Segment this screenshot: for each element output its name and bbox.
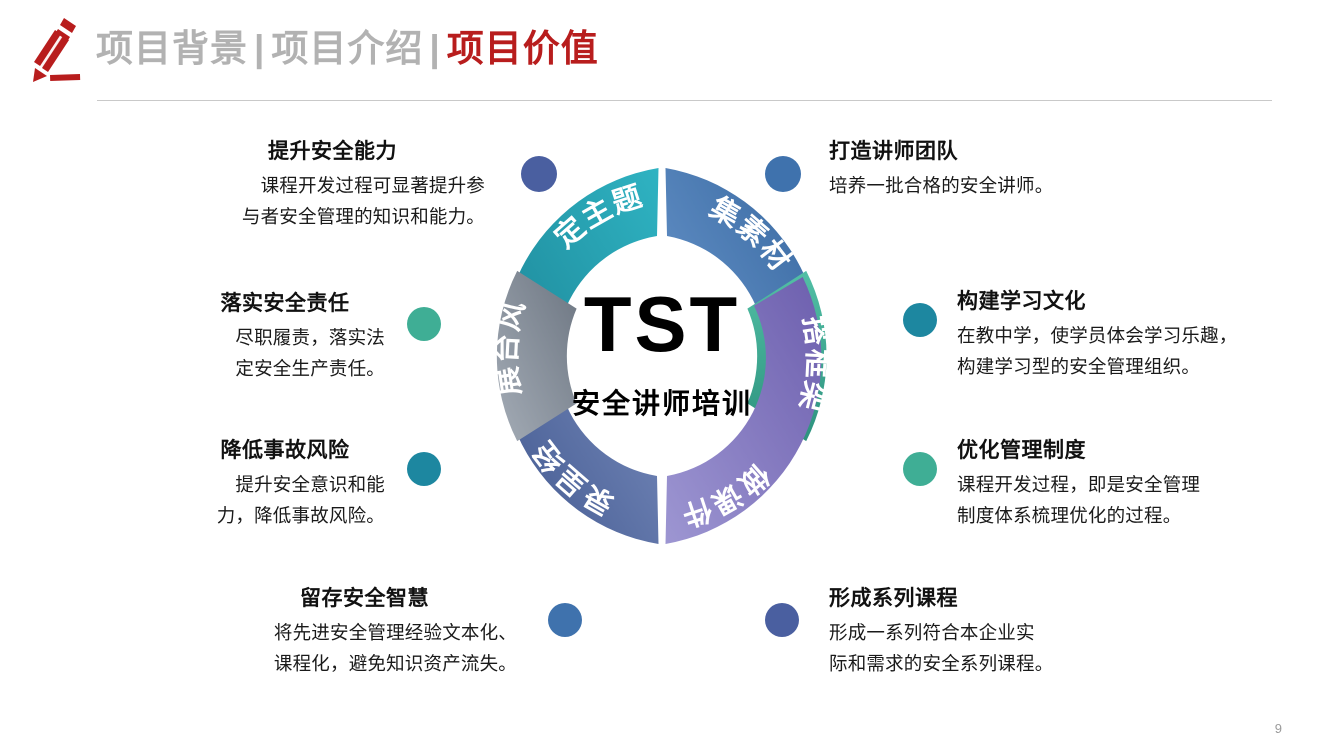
breadcrumb-item-0[interactable]: 项目背景 xyxy=(96,28,248,69)
callout-left-3: 留存安全智慧 将先进安全管理经验文本化、 课程化，避免知识资产流失。 xyxy=(212,584,517,679)
callout-dot-left-0 xyxy=(521,156,557,192)
callout-title: 提升安全能力 xyxy=(180,137,485,167)
slide-header: 项目背景|项目介绍|项目价值 xyxy=(0,0,1324,104)
callout-body: 将先进安全管理经验文本化、 课程化，避免知识资产流失。 xyxy=(212,617,517,679)
pencil-icon xyxy=(26,16,86,90)
breadcrumb-separator-1: | xyxy=(423,28,446,69)
callout-dot-right-2 xyxy=(903,452,937,486)
page-title: 项目背景|项目介绍|项目价值 xyxy=(96,21,599,77)
callout-dot-right-1 xyxy=(903,303,937,337)
callout-dot-left-1 xyxy=(407,307,441,341)
callout-body: 在教中学，使学员体会学习乐趣， 构建学习型的安全管理组织。 xyxy=(957,320,1317,382)
callout-dot-left-3 xyxy=(548,603,582,637)
breadcrumb-item-2[interactable]: 项目价值 xyxy=(447,28,599,69)
callout-body: 培养一批合格的安全讲师。 xyxy=(829,170,1209,201)
wheel-center-subtitle: 安全讲师培训 xyxy=(452,382,872,422)
callout-left-1: 落实安全责任 尽职履责，落实法 定安全生产责任。 xyxy=(185,289,385,384)
callout-title: 形成系列课程 xyxy=(829,584,1189,614)
callout-right-1: 构建学习文化 在教中学，使学员体会学习乐趣， 构建学习型的安全管理组织。 xyxy=(957,287,1317,382)
callout-right-2: 优化管理制度 课程开发过程，即是安全管理 制度体系梳理优化的过程。 xyxy=(957,436,1317,531)
page-number: 9 xyxy=(1275,721,1282,736)
value-wheel-diagram: 定主题 集素材 搭框架 做课件 录呈经 展台风 TST 安全讲师培训 提升安全能… xyxy=(0,104,1324,752)
callout-title: 打造讲师团队 xyxy=(829,137,1209,167)
callout-dot-left-2 xyxy=(407,452,441,486)
callout-title: 降低事故风险 xyxy=(185,436,385,466)
callout-title: 落实安全责任 xyxy=(185,289,385,319)
breadcrumb-separator-0: | xyxy=(248,28,271,69)
callout-right-3: 形成系列课程 形成一系列符合本企业实 际和需求的安全系列课程。 xyxy=(829,584,1189,679)
callout-body: 课程开发过程可显著提升参 与者安全管理的知识和能力。 xyxy=(180,170,485,232)
callout-left-0: 提升安全能力 课程开发过程可显著提升参 与者安全管理的知识和能力。 xyxy=(180,137,485,232)
callout-body: 尽职履责，落实法 定安全生产责任。 xyxy=(185,322,385,384)
header-divider xyxy=(97,100,1272,101)
callout-title: 构建学习文化 xyxy=(957,287,1317,317)
callout-title: 留存安全智慧 xyxy=(212,584,517,614)
wheel-center-acronym: TST xyxy=(452,282,872,366)
callout-body: 形成一系列符合本企业实 际和需求的安全系列课程。 xyxy=(829,617,1189,679)
callout-left-2: 降低事故风险 提升安全意识和能 力，降低事故风险。 xyxy=(185,436,385,531)
callout-dot-right-0 xyxy=(765,156,801,192)
callout-body: 提升安全意识和能 力，降低事故风险。 xyxy=(185,469,385,531)
callout-body: 课程开发过程，即是安全管理 制度体系梳理优化的过程。 xyxy=(957,469,1317,531)
callout-right-0: 打造讲师团队 培养一批合格的安全讲师。 xyxy=(829,137,1209,201)
breadcrumb-item-1[interactable]: 项目介绍 xyxy=(271,28,423,69)
callout-title: 优化管理制度 xyxy=(957,436,1317,466)
callout-dot-right-3 xyxy=(765,603,799,637)
